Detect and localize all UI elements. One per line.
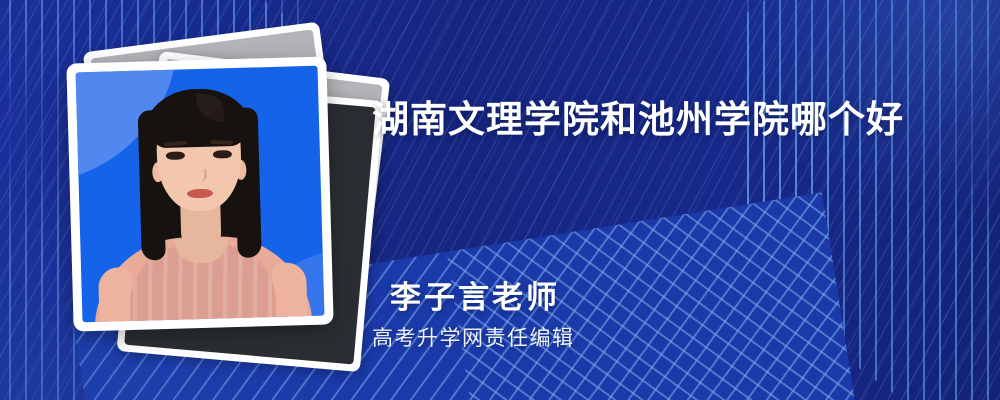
article-header-banner: 湖南文理学院和池州学院哪个好 李子言老师 高考升学网责任编辑 bbox=[0, 0, 1000, 400]
portrait-eye-right bbox=[213, 150, 232, 159]
author-photo bbox=[76, 66, 325, 323]
photo-card-stack bbox=[58, 38, 358, 348]
portrait-eyebrow-right bbox=[210, 140, 232, 145]
author-role: 高考升学网责任编辑 bbox=[372, 322, 575, 352]
portrait-arm-left bbox=[98, 267, 135, 322]
portrait-illustration bbox=[76, 66, 325, 323]
author-photo-frame bbox=[66, 56, 333, 331]
author-name: 李子言老师 bbox=[390, 272, 560, 317]
portrait-eye-left bbox=[166, 151, 185, 160]
portrait-arm-right bbox=[272, 262, 309, 322]
banner-title: 湖南文理学院和池州学院哪个好 bbox=[372, 97, 972, 143]
